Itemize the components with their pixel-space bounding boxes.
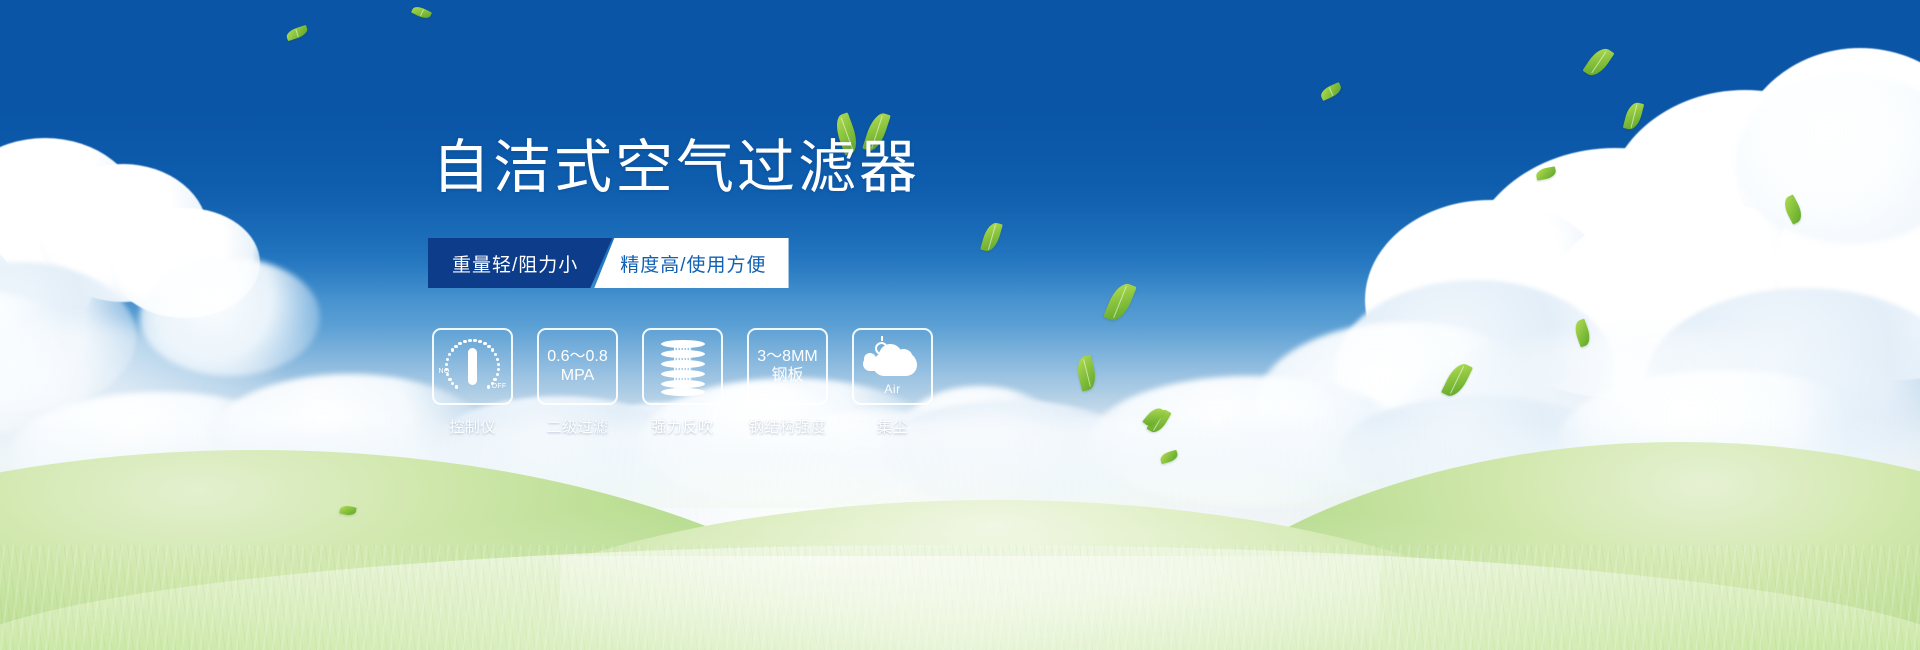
sun-ray [881, 336, 883, 341]
feature-box: Air [852, 328, 933, 405]
tag-precision-convenience[interactable]: 精度高/使用方便 [594, 238, 788, 288]
cloud-bump-2 [894, 349, 913, 368]
gauge-tick [493, 378, 496, 381]
gauge-tick [483, 342, 486, 345]
gauge-tick [496, 373, 499, 376]
tag-weight-resistance[interactable]: 重量轻/阻力小 [428, 238, 612, 288]
gauge-tick [487, 385, 490, 388]
gauge-tick [496, 358, 499, 361]
gauge-tick [448, 378, 451, 381]
gauge-tick [458, 342, 461, 345]
feature-label: 集尘 [877, 416, 908, 437]
feature-label: 二级过滤 [546, 416, 608, 437]
gauge-tick [491, 348, 494, 351]
feature-item-controller[interactable]: NO OFF 控制仪 [432, 328, 513, 437]
feature-icon-list: NO OFF 控制仪 0.6～0.8 MPA 二级过滤 [432, 328, 933, 437]
gauge-tick [497, 368, 500, 371]
gauge-tick [468, 339, 471, 342]
gauge-tick [451, 382, 454, 385]
gauge-tick [454, 345, 457, 348]
feature-label: 强力反吹 [651, 416, 713, 437]
gauge-tick [497, 363, 500, 366]
air-label: Air [861, 382, 925, 396]
gauge-tick [451, 348, 454, 351]
feature-item-dust-collection[interactable]: Air 集尘 [852, 328, 933, 437]
pressure-value: 0.6～0.8 [547, 348, 608, 365]
feature-item-strong-backblow[interactable]: 强力反吹 [642, 328, 723, 437]
feature-box: 3～8MM 钢板 [747, 328, 828, 405]
gauge-tick [445, 363, 448, 366]
feature-label: 控制仪 [449, 416, 496, 437]
page-title: 自洁式空气过滤器 [432, 139, 920, 197]
steel-material: 钢板 [757, 367, 817, 386]
feature-box [642, 328, 723, 405]
gauge-tick [446, 358, 449, 361]
gauge-tick [473, 339, 476, 342]
feature-item-steel-strength[interactable]: 3～8MM 钢板 钢结构强度 [747, 328, 828, 437]
cloud-air-icon: Air [861, 340, 925, 394]
gauge-tick [455, 385, 458, 388]
gauge-needle [468, 348, 477, 385]
gauge-tick [494, 353, 497, 356]
pressure-text-icon: 0.6～0.8 MPA [547, 348, 608, 386]
feature-box: 0.6～0.8 MPA [537, 328, 618, 405]
gauge-tick [491, 382, 494, 385]
filter-cartridge-icon [657, 338, 709, 396]
gauge-tick [446, 373, 449, 376]
feature-tags: 重量轻/阻力小 精度高/使用方便 [428, 238, 789, 288]
gauge-tick [463, 340, 466, 343]
steel-plate-text-icon: 3～8MM 钢板 [757, 348, 817, 386]
gauge-icon: NO OFF [440, 337, 506, 397]
gauge-tick [478, 340, 481, 343]
feature-item-secondary-filtration[interactable]: 0.6～0.8 MPA 二级过滤 [537, 328, 618, 437]
product-banner: 自洁式空气过滤器 重量轻/阻力小 精度高/使用方便 NO OFF 控制仪 [0, 0, 1920, 650]
feature-box: NO OFF [432, 328, 513, 405]
feature-label: 钢结构强度 [749, 416, 827, 437]
steel-thickness: 3～8MM [757, 348, 817, 365]
pressure-unit: MPA [547, 367, 608, 386]
gauge-tick [448, 353, 451, 356]
